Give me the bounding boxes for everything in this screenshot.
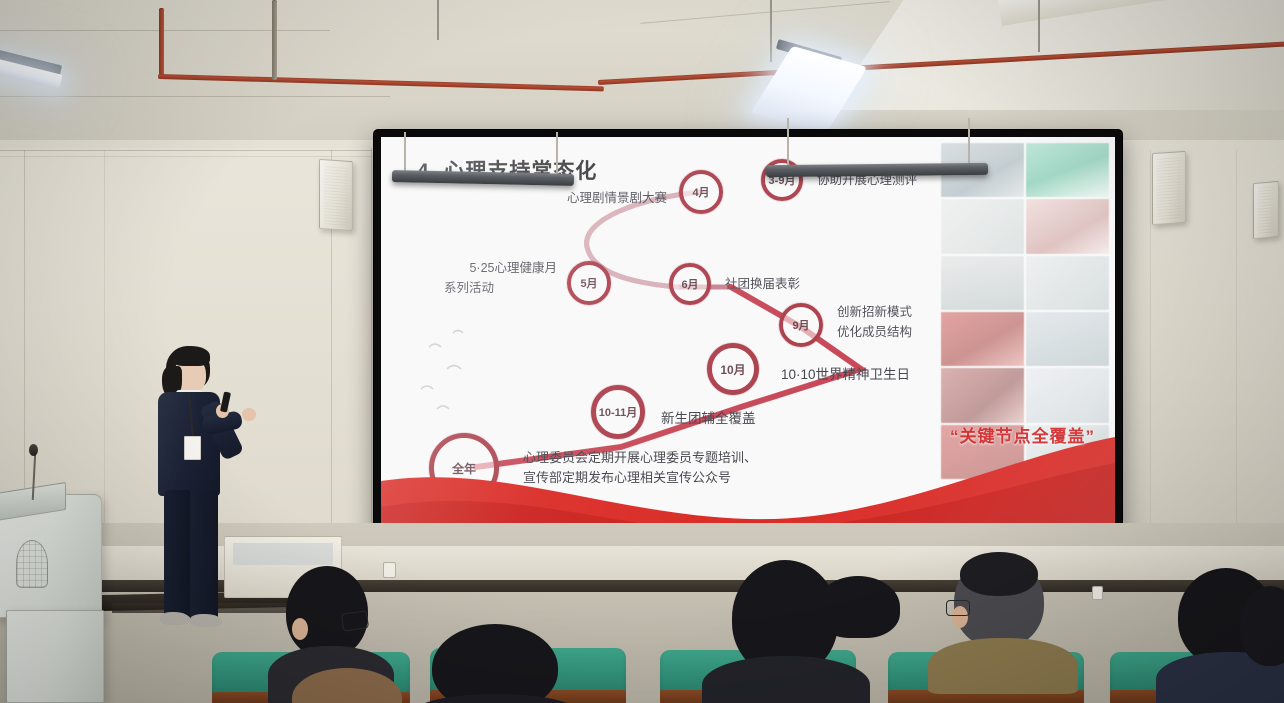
node-label: 5月 bbox=[580, 275, 597, 291]
node-label: 9月 bbox=[792, 317, 809, 333]
presenter-leg-left bbox=[164, 490, 190, 618]
presenter-bangs bbox=[172, 346, 210, 366]
wall-seam bbox=[1150, 150, 1151, 560]
wall-outlet bbox=[383, 562, 396, 578]
caption-oct: 10·10世界精神卫生日 bbox=[781, 365, 910, 385]
light-bar-wire bbox=[968, 118, 970, 168]
presentation-slide: 4. 心理支持常态化 4月 心理剧情景剧大赛 3-9月 协助开展心理测评 5月 … bbox=[381, 137, 1115, 535]
podium-emblem bbox=[16, 540, 48, 588]
sprinkler-pipe-vertical bbox=[272, 0, 277, 80]
hair-top bbox=[960, 552, 1038, 596]
wall-seam bbox=[104, 150, 105, 550]
pipe-hanger bbox=[1038, 0, 1040, 52]
caption-sep-line2: 优化成员结构 bbox=[837, 323, 912, 341]
timeline-node-apr: 4月 bbox=[679, 170, 723, 214]
red-caption: “关键节点全覆盖” bbox=[950, 422, 1095, 447]
light-bar-wire bbox=[556, 132, 558, 176]
wall-speaker-far-right bbox=[1253, 181, 1279, 239]
speaker-grille bbox=[1258, 186, 1274, 233]
microphone-head bbox=[29, 444, 38, 456]
presenter-shoe-right bbox=[190, 614, 222, 627]
timeline-node-may: 5月 bbox=[567, 261, 611, 305]
pipe-hanger bbox=[437, 0, 439, 40]
lecture-hall-photo: 4. 心理支持常态化 4月 心理剧情景剧大赛 3-9月 协助开展心理测评 5月 … bbox=[0, 0, 1284, 703]
sprinkler-pipe-vertical bbox=[159, 8, 164, 78]
eyeglasses bbox=[341, 610, 369, 631]
wall-trim-line bbox=[0, 150, 372, 151]
shoulders bbox=[702, 656, 870, 703]
head bbox=[432, 624, 558, 703]
light-bar-wire bbox=[787, 118, 789, 168]
presenter-id-badge bbox=[184, 436, 201, 460]
presenter-hand-left bbox=[242, 408, 256, 421]
caption-sep-line1: 创新招新模式 bbox=[837, 303, 912, 321]
wall-outlet bbox=[1092, 586, 1103, 600]
wall-trim-line bbox=[0, 156, 372, 157]
presenter-shoe-left bbox=[160, 612, 190, 625]
speaker-grille bbox=[1157, 156, 1181, 220]
speaker-grille bbox=[324, 164, 348, 226]
node-label: 6月 bbox=[681, 276, 698, 292]
caption-apr: 心理剧情景剧大赛 bbox=[437, 189, 667, 207]
timeline-node-oct: 10月 bbox=[707, 343, 759, 395]
node-label: 4月 bbox=[692, 184, 709, 200]
hanging-light-bar-right bbox=[766, 163, 988, 177]
eyeglasses bbox=[946, 600, 970, 616]
presenter-leg-right bbox=[190, 490, 218, 620]
caption-may-line2: 系列活动 bbox=[381, 279, 557, 297]
wall-speaker-left bbox=[319, 159, 353, 231]
presenter bbox=[150, 340, 270, 660]
timeline-node-sep: 9月 bbox=[779, 303, 823, 347]
ear bbox=[292, 618, 308, 640]
caption-jun: 社团换届表彰 bbox=[725, 275, 800, 293]
node-label: 10月 bbox=[720, 361, 745, 378]
timeline-node-jun: 6月 bbox=[669, 263, 711, 305]
node-label: 10-11月 bbox=[599, 404, 638, 420]
ceiling-seam bbox=[0, 96, 390, 97]
head bbox=[816, 576, 900, 638]
wall-display[interactable]: 4. 心理支持常态化 4月 心理剧情景剧大赛 3-9月 协助开展心理测评 5月 … bbox=[374, 130, 1122, 542]
shoulders bbox=[928, 638, 1078, 694]
podium-base bbox=[6, 610, 104, 703]
pipe-hanger bbox=[770, 0, 772, 62]
presentation-clicker[interactable] bbox=[220, 391, 231, 412]
wall-seam bbox=[1236, 150, 1237, 560]
wall-speaker-right bbox=[1152, 151, 1186, 225]
caption-may-line1: 5·25心理健康月 bbox=[381, 259, 557, 277]
ceiling-seam bbox=[0, 30, 330, 31]
